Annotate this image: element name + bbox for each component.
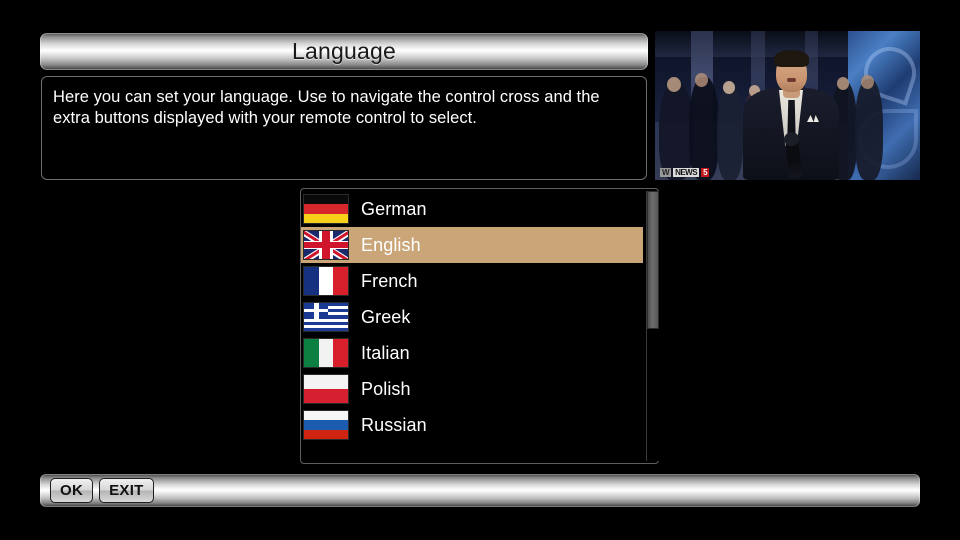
list-item-label: German [361,200,427,218]
list-item-russian[interactable]: Russian [301,407,643,443]
list-item-greek[interactable]: Greek [301,299,643,335]
channel-bug: W NEWS 5 [660,168,709,177]
channel-bug-seg2: NEWS [673,168,699,177]
gr-flag-icon [304,303,348,331]
list-item-polish[interactable]: Polish [301,371,643,407]
ru-flag-icon [304,411,348,439]
video-crowd-figure [717,87,743,180]
list-item-german[interactable]: German [301,191,643,227]
list-item-label: Polish [361,380,411,398]
it-flag-icon [304,339,348,367]
page-title: Language [292,40,396,63]
channel-bug-seg1: W [660,168,671,177]
list-item-label: Russian [361,416,427,434]
list-item-italian[interactable]: Italian [301,335,643,371]
description-panel: Here you can set your language. Use to n… [41,76,647,180]
fr-flag-icon [304,267,348,295]
pl-flag-icon [304,375,348,403]
list-scrollbar[interactable] [646,191,659,461]
list-item-label: English [361,236,421,254]
video-crowd-head [861,75,874,89]
channel-bug-seg3: 5 [701,168,709,177]
bottom-toolbar: OK EXIT [40,474,920,507]
video-crowd-figure [689,77,719,180]
ok-button-label: OK [60,482,83,499]
video-reporter [743,48,839,180]
title-bar: Language [40,33,648,70]
de-flag-icon [304,195,348,223]
reporter-hair [774,50,809,67]
exit-button-label: EXIT [109,482,144,499]
video-crowd-head [667,77,681,92]
list-item-english[interactable]: English [301,227,643,263]
list-item-label: Italian [361,344,410,362]
reporter-mouth [787,78,796,82]
video-crowd-figure [855,79,883,180]
video-preview[interactable]: W NEWS 5 [655,31,920,180]
language-list[interactable]: German English French [300,188,659,464]
video-crowd-head [723,81,735,94]
exit-button[interactable]: EXIT [99,478,154,503]
description-text: Here you can set your language. Use to n… [53,87,635,129]
tv-settings-screen: Language Here you can set your language.… [0,0,960,540]
list-item-french[interactable]: French [301,263,643,299]
language-list-items: German English French [301,191,643,443]
video-crowd-figure [659,83,693,180]
gb-flag-icon [304,231,348,259]
scrollbar-thumb[interactable] [647,191,659,329]
ok-button[interactable]: OK [50,478,93,503]
list-item-label: Greek [361,308,411,326]
video-crowd-head [695,73,708,87]
video-frame: W NEWS 5 [655,31,920,180]
list-item-label: French [361,272,418,290]
